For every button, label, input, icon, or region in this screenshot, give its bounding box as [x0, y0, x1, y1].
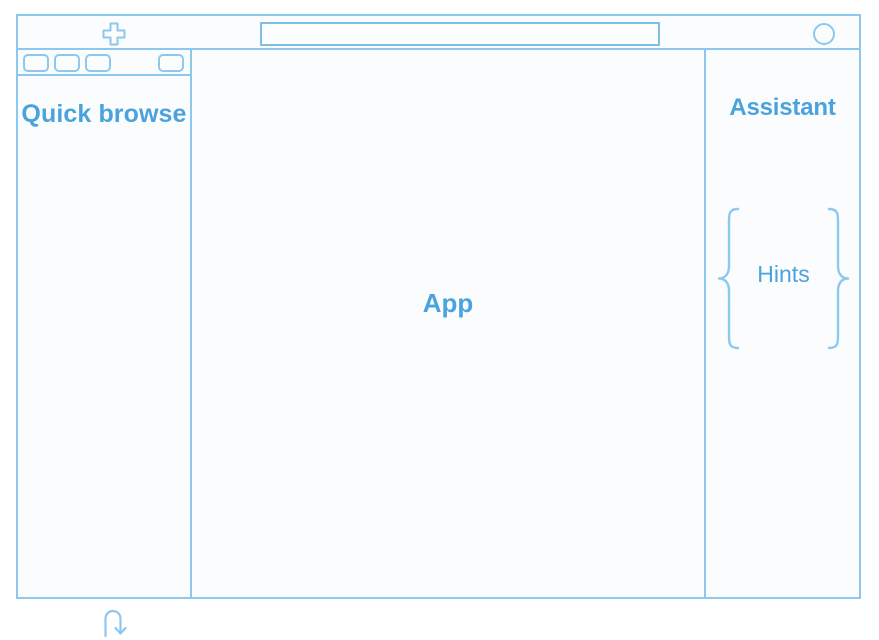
hints-block: Hints	[716, 206, 851, 351]
sidebar-item-chip-1[interactable]	[23, 54, 49, 72]
plus-icon[interactable]	[101, 21, 127, 47]
quick-browse-sidebar: Quick browse	[18, 50, 192, 597]
sidebar-item-chip-4[interactable]	[158, 54, 184, 72]
browser-toolbar	[16, 14, 861, 50]
window-body: Quick browse App Assistant	[16, 48, 861, 599]
address-input[interactable]	[260, 22, 660, 46]
u-turn-arrow-icon[interactable]	[98, 606, 132, 640]
app-content-pane[interactable]: App	[192, 50, 706, 597]
sidebar-tab-strip	[18, 50, 190, 76]
assistant-pane: Assistant Hints	[706, 50, 859, 597]
assistant-title: Assistant	[706, 94, 859, 122]
wireframe-window: Quick browse App Assistant	[16, 14, 861, 599]
app-label: App	[192, 288, 704, 319]
right-curly-brace-icon	[825, 206, 851, 351]
sidebar-item-chip-3[interactable]	[85, 54, 111, 72]
circle-avatar-icon[interactable]	[813, 23, 835, 45]
sidebar-title: Quick browse	[18, 98, 190, 132]
sidebar-item-chip-2[interactable]	[54, 54, 80, 72]
hints-label: Hints	[742, 261, 825, 288]
left-curly-brace-icon	[716, 206, 742, 351]
